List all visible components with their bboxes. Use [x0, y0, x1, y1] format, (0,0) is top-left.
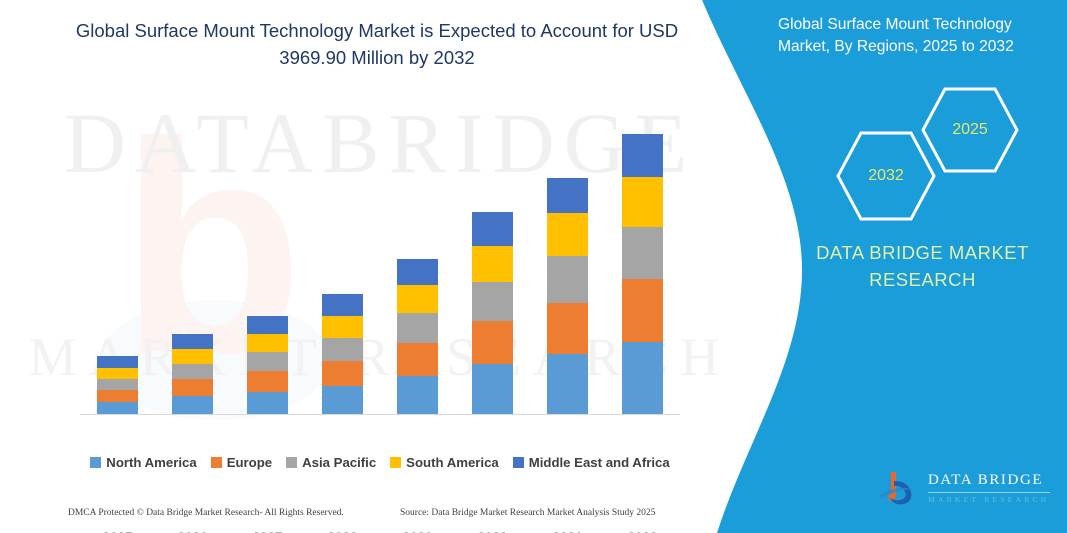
- bar-segment: [97, 379, 138, 390]
- logo-main-text: DATA BRIDGE: [928, 472, 1058, 489]
- hexagon-badge-2032: 2032: [834, 129, 938, 223]
- company-logo: DATA BRIDGE MARKET RESEARCH: [878, 466, 1058, 514]
- bar-segment: [322, 316, 363, 338]
- chart-title: Global Surface Mount Technology Market i…: [62, 18, 692, 72]
- bar-column: [536, 114, 600, 414]
- bar-segment: [322, 338, 363, 361]
- legend-item[interactable]: Asia Pacific: [286, 455, 376, 470]
- stacked-bar: [172, 334, 213, 414]
- bar-segment: [547, 256, 588, 303]
- bar-segment: [172, 349, 213, 364]
- brand-name-line1: DATA BRIDGE MARKET: [790, 240, 1055, 267]
- bar-segment: [172, 379, 213, 396]
- bar-column: [611, 114, 675, 414]
- legend-item[interactable]: South America: [390, 455, 499, 470]
- legend-swatch-icon: [286, 457, 297, 468]
- legend-label: Europe: [227, 455, 272, 470]
- bars-container: [80, 114, 680, 414]
- bar-segment: [322, 361, 363, 386]
- brand-name-line2: RESEARCH: [790, 267, 1055, 294]
- logo-divider: [928, 492, 1050, 493]
- bar-segment: [547, 303, 588, 354]
- bar-column: [461, 114, 525, 414]
- bar-segment: [97, 402, 138, 414]
- stacked-bar: [547, 178, 588, 414]
- bar-segment: [622, 279, 663, 342]
- bar-segment: [397, 313, 438, 343]
- bar-segment: [397, 343, 438, 376]
- bar-segment: [172, 334, 213, 349]
- hexagon-badge-2032-label: 2032: [834, 129, 938, 223]
- legend-item[interactable]: Europe: [211, 455, 272, 470]
- stacked-bar: [397, 259, 438, 414]
- bar-segment: [97, 368, 138, 379]
- bar-segment: [622, 134, 663, 177]
- bar-segment: [472, 282, 513, 321]
- data-bridge-logo-icon: [878, 468, 922, 512]
- logo-sub-text: MARKET RESEARCH: [928, 495, 1058, 504]
- bar-segment: [172, 396, 213, 414]
- chart-legend: North AmericaEuropeAsia PacificSouth Ame…: [80, 455, 680, 470]
- footer: DMCA Protected © Data Bridge Market Rese…: [0, 508, 700, 530]
- bar-segment: [322, 386, 363, 414]
- stacked-bar-chart: 20252026202720282029203020312032: [80, 110, 680, 415]
- stacked-bar: [97, 356, 138, 414]
- bar-segment: [247, 334, 288, 352]
- x-axis-line: [80, 414, 680, 415]
- brand-name: DATA BRIDGE MARKET RESEARCH: [790, 240, 1055, 294]
- bar-segment: [622, 342, 663, 414]
- footer-source: Source: Data Bridge Market Research Mark…: [400, 508, 655, 518]
- bar-segment: [397, 285, 438, 313]
- bar-segment: [97, 390, 138, 402]
- hexagon-badges: 2025 2032: [820, 85, 1050, 205]
- bar-segment: [472, 246, 513, 282]
- bar-segment: [622, 227, 663, 279]
- infographic-root: b DATABRIDGE MARKET RESEARCH Global Surf…: [0, 0, 1067, 533]
- panel-title: Global Surface Mount Technology Market, …: [778, 14, 1058, 57]
- bar-segment: [322, 294, 363, 316]
- bar-segment: [622, 177, 663, 227]
- bar-segment: [472, 321, 513, 364]
- bar-column: [311, 114, 375, 414]
- stacked-bar: [622, 134, 663, 414]
- legend-swatch-icon: [390, 457, 401, 468]
- legend-label: Asia Pacific: [302, 455, 376, 470]
- bar-column: [86, 114, 150, 414]
- legend-label: South America: [406, 455, 499, 470]
- legend-label: North America: [106, 455, 196, 470]
- bar-segment: [547, 178, 588, 213]
- footer-copyright: DMCA Protected © Data Bridge Market Rese…: [68, 508, 344, 518]
- legend-swatch-icon: [90, 457, 101, 468]
- legend-label: Middle East and Africa: [529, 455, 670, 470]
- bar-segment: [247, 352, 288, 371]
- stacked-bar: [322, 294, 363, 414]
- stacked-bar: [247, 316, 288, 414]
- legend-item[interactable]: Middle East and Africa: [513, 455, 670, 470]
- bar-segment: [97, 356, 138, 368]
- bar-column: [236, 114, 300, 414]
- bar-column: [386, 114, 450, 414]
- bar-column: [161, 114, 225, 414]
- bar-segment: [247, 371, 288, 392]
- bar-segment: [247, 392, 288, 414]
- bar-segment: [172, 364, 213, 379]
- bar-segment: [547, 213, 588, 256]
- stacked-bar: [472, 212, 513, 414]
- logo-wordmark: DATA BRIDGE MARKET RESEARCH: [928, 472, 1058, 504]
- bar-segment: [472, 212, 513, 246]
- legend-item[interactable]: North America: [90, 455, 196, 470]
- legend-swatch-icon: [513, 457, 524, 468]
- bar-segment: [472, 364, 513, 414]
- bar-segment: [247, 316, 288, 334]
- bar-segment: [397, 259, 438, 285]
- bar-segment: [547, 354, 588, 414]
- bar-segment: [397, 376, 438, 414]
- legend-swatch-icon: [211, 457, 222, 468]
